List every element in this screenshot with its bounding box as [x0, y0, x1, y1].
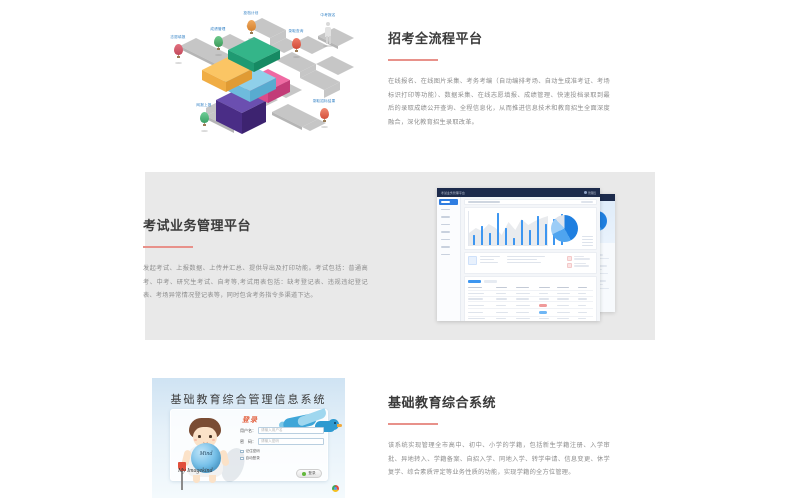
pie-chart-legend — [582, 234, 593, 246]
exam-dashboard-screenshot: 考试业务管理平台 管理员 — [437, 188, 615, 325]
checkbox-icon[interactable] — [240, 450, 244, 454]
kpi-alert-2 — [567, 263, 593, 268]
dashboard-brand: 考试业务管理平台 — [441, 191, 465, 195]
dashboard-body — [437, 197, 600, 321]
mascot-signature: My Imagekind — [178, 468, 213, 474]
section-3-rule — [388, 423, 438, 425]
login-page-title: 基础教育综合管理信息系统 — [152, 391, 345, 407]
auto-login-checkbox[interactable]: 自动登录 — [240, 456, 324, 461]
bar-2 — [489, 233, 491, 245]
login-form: 用户名： 请输入用户名 密 码： 请输入密码 记住密码 — [240, 427, 324, 473]
checkbox-icon[interactable] — [240, 457, 244, 461]
username-label: 用户名： — [240, 428, 258, 434]
section-1-title: 招考全流程平台 — [388, 28, 610, 47]
sidebar-item-6[interactable] — [439, 244, 458, 250]
recruit-process-illustration: 志愿填报 成绩管理 投档计划 录取查询 中考报名 — [150, 8, 365, 158]
username-input[interactable]: 请输入用户名 — [258, 427, 324, 434]
password-label: 密 码： — [240, 439, 258, 445]
password-row: 密 码： 请输入密码 — [240, 438, 324, 445]
dashboard-main — [461, 197, 600, 321]
bar-3 — [497, 213, 499, 245]
status-badge — [539, 302, 557, 309]
charts-panel — [464, 207, 597, 250]
login-options-row: 记住密码 自动登录 登录 — [240, 449, 324, 461]
mascot-leg-left — [193, 475, 200, 483]
dashboard-window: 考试业务管理平台 管理员 — [437, 188, 600, 321]
node-label-4: 中考报名 — [320, 13, 335, 18]
chrome-logo-icon — [332, 485, 339, 492]
node-label-2: 投档计划 — [243, 11, 258, 16]
exam-table — [468, 285, 593, 321]
section-1-rule — [388, 59, 438, 61]
tab-1[interactable] — [484, 280, 497, 283]
node-marker-balloon-luqu — [292, 38, 301, 54]
node-marker-balloon-jieguo — [320, 108, 329, 124]
mascot-cheek-right — [212, 439, 215, 441]
dashboard-user-label: 管理员 — [588, 191, 596, 195]
pie-chart — [551, 215, 578, 242]
dashboard-sidebar[interactable] — [437, 197, 461, 321]
alert-icon — [567, 263, 572, 268]
kpi-icon — [468, 256, 477, 265]
mascot-flag — [178, 462, 186, 488]
remember-password-checkbox[interactable]: 记住密码 — [240, 449, 324, 454]
section-3-text: 基础教育综合系统 该系统实现管理全市高中、初中、小学的学籍，包括新生学籍注册、入… — [388, 392, 610, 480]
sidebar-item-4[interactable] — [439, 229, 458, 235]
bar-5 — [513, 238, 515, 245]
mascot-illustration: Mind — [178, 418, 234, 484]
login-button-label: 登录 — [308, 471, 315, 476]
node-marker-balloon-wangbao — [200, 112, 209, 128]
sidebar-item-5[interactable] — [439, 237, 458, 243]
avatar-icon — [584, 191, 587, 194]
sidebar-item-0[interactable] — [439, 199, 458, 205]
status-badge — [539, 309, 557, 316]
username-row: 用户名： 请输入用户名 — [240, 427, 324, 434]
section-1-text: 招考全流程平台 在线报名、在线图片采集、考务考编（自动编排考场、自动生成准考证、… — [388, 28, 610, 129]
bar-6 — [521, 220, 523, 245]
password-input[interactable]: 请输入密码 — [258, 438, 324, 445]
tab-0[interactable] — [468, 280, 481, 283]
alert-icon — [567, 256, 572, 261]
node-marker-balloon-zhiyuan — [174, 44, 183, 60]
table-tabs[interactable] — [468, 280, 593, 283]
bar-0 — [473, 235, 475, 245]
bar-chart — [468, 211, 548, 246]
table-row[interactable] — [468, 316, 593, 321]
section-2-title: 考试业务管理平台 — [143, 215, 368, 234]
node-label-6: 录取招标结果 — [313, 99, 336, 104]
kpi-lines-2 — [507, 256, 547, 270]
bar-4 — [505, 228, 507, 245]
section-1-body: 在线报名、在线图片采集、考务考编（自动编排考场、自动生成准考证、考场标识打印等功… — [388, 75, 610, 129]
charts-row — [468, 211, 593, 246]
landing-page: 志愿填报 成绩管理 投档计划 录取查询 中考报名 — [0, 0, 800, 500]
sidebar-item-1[interactable] — [439, 207, 458, 213]
node-marker-person-zhongkao — [323, 22, 333, 48]
kpi-left — [468, 256, 564, 270]
breadcrumb-actions[interactable] — [581, 201, 593, 203]
mascot-eye-right — [209, 435, 212, 438]
dashboard-user[interactable]: 管理员 — [584, 191, 596, 195]
section-2-text: 考试业务管理平台 发起考试、上报数据、上传并汇总、提供导出及打印功能。考试包括：… — [143, 215, 368, 303]
pie-chart-wrap — [551, 211, 593, 246]
section-2-body: 发起考试、上报数据、上传并汇总、提供导出及打印功能。考试包括：普通高考、中考、研… — [143, 262, 368, 303]
basic-education-login-screenshot: 基础教育综合管理信息系统 Mind — [152, 378, 345, 498]
breadcrumb — [464, 199, 597, 205]
section-2-rule — [143, 246, 193, 248]
sidebar-item-3[interactable] — [439, 222, 458, 228]
table-panel — [464, 276, 597, 321]
mascot-eye-left — [198, 435, 201, 438]
kpi-row — [468, 256, 593, 270]
remember-password-label: 记住密码 — [246, 449, 260, 454]
login-panel-title: 登录 — [242, 415, 258, 425]
node-label-3: 录取查询 — [288, 29, 303, 34]
bar-1 — [481, 226, 483, 245]
bird-eye — [334, 422, 336, 424]
isometric-map: 志愿填报 成绩管理 投档计划 录取查询 中考报名 — [150, 8, 365, 158]
breadcrumb-text — [468, 201, 500, 203]
kpi-alert-1 — [567, 256, 593, 261]
sidebar-item-7[interactable] — [439, 252, 458, 258]
node-label-0: 志愿填报 — [170, 35, 185, 40]
section-3-title: 基础教育综合系统 — [388, 392, 610, 411]
node-label-5: 网报上报 — [196, 103, 211, 108]
sidebar-item-2[interactable] — [439, 214, 458, 220]
login-checkboxes: 记住密码 自动登录 — [240, 449, 324, 461]
table-row[interactable] — [468, 302, 593, 309]
bar-8 — [537, 216, 539, 245]
bar-9 — [545, 224, 547, 245]
login-fields: 用户名： 请输入用户名 密 码： 请输入密码 记住密码 — [240, 427, 324, 461]
login-button-icon — [302, 472, 306, 476]
kpi-right — [567, 256, 593, 270]
bar-7 — [529, 230, 531, 245]
auto-login-label: 自动登录 — [246, 456, 260, 461]
login-submit-button[interactable]: 登录 — [296, 469, 322, 478]
mascot-cheek-left — [194, 439, 197, 441]
mascot-leg-right — [209, 475, 216, 483]
login-page: 基础教育综合管理信息系统 Mind — [152, 378, 345, 498]
node-marker-balloon-chengji — [214, 36, 223, 52]
kpi-lines-1 — [480, 256, 504, 270]
dashboard-titlebar: 考试业务管理平台 管理员 — [437, 188, 600, 197]
section-3-body: 该系统实现管理全市高中、初中、小学的学籍，包括新生学籍注册、入学审批、异地转入、… — [388, 439, 610, 480]
node-marker-balloon-toudang — [247, 20, 256, 36]
kpi-panel — [464, 252, 597, 274]
bird-beak — [337, 424, 342, 427]
mascot-ball-text: Mind — [191, 451, 221, 457]
node-label-1: 成绩管理 — [210, 27, 225, 32]
table-row[interactable] — [468, 309, 593, 316]
